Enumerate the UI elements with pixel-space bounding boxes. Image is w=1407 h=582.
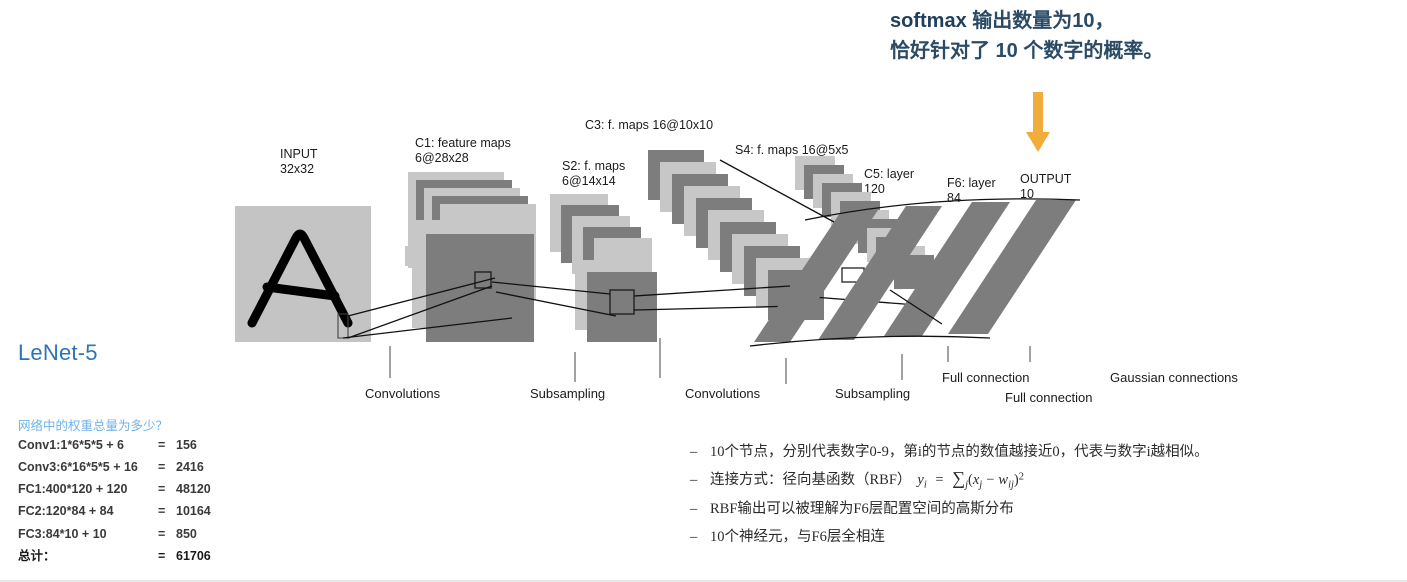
slide-canvas: softmax 输出数量为10， 恰好针对了 10 个数字的概率。 INPUT … [0, 0, 1407, 582]
weights-expr: FC2:120*84 + 84 [18, 500, 158, 522]
c1-feature-maps [405, 172, 536, 342]
bullet-text: 10个神经元，与F6层全相连 [710, 525, 885, 546]
op-label-gaussian-connections: Gaussian connections [1110, 370, 1238, 385]
table-row: FC1:400*120 + 120 = 48120 [18, 478, 211, 500]
table-row: FC3:84*10 + 10 = 850 [18, 523, 211, 545]
table-row: Conv3:6*16*5*5 + 16 = 2416 [18, 456, 211, 478]
weights-total-label: 总计： [18, 545, 158, 567]
bullet-text: 10个节点，分别代表数字0-9，第i的节点的数值越接近0，代表与数字i越相似。 [710, 440, 1209, 461]
bullet-dash: – [690, 444, 710, 461]
weights-expr: FC3:84*10 + 10 [18, 523, 158, 545]
weights-value: 48120 [176, 478, 211, 500]
formula-x-sub: j [979, 479, 982, 490]
weights-question-text: 网络中的权重总量为多少？ [18, 415, 168, 434]
callout-line1-rest: 输出数量为10， [967, 10, 1115, 32]
weights-value: 10164 [176, 500, 211, 522]
formula-minus: − [986, 472, 994, 488]
operation-label-row: Convolutions Subsampling Convolutions Su… [230, 360, 1330, 410]
table-row: Conv1:1*6*5*5 + 6 = 156 [18, 434, 211, 456]
op-label-convolutions-1: Convolutions [365, 386, 440, 401]
callout-softmax-word: softmax [890, 10, 967, 32]
weights-value: 850 [176, 523, 211, 545]
formula-sigma: ∑ [952, 468, 965, 488]
weights-equals: = [158, 523, 176, 545]
op-label-subsampling-2: Subsampling [835, 386, 910, 401]
op-label-full-connection-1: Full connection [942, 370, 1029, 385]
list-item: – RBF输出可以被理解为F6层配置空间的高斯分布 [690, 497, 1209, 518]
weights-expr: Conv1:1*6*5*5 + 6 [18, 434, 158, 456]
op-label-full-connection-2: Full connection [1005, 390, 1092, 405]
formula-exponent: 2 [1019, 471, 1024, 482]
list-item: – 10个节点，分别代表数字0-9，第i的节点的数值越接近0，代表与数字i越相似… [690, 440, 1209, 461]
bullet-text: RBF输出可以被理解为F6层配置空间的高斯分布 [710, 497, 1014, 518]
bullet-dash: – [690, 472, 710, 489]
list-item: – 连接方式：径向基函数（RBF） yi = ∑j(xj−wij)2 [690, 468, 1209, 490]
weights-expr: Conv3:6*16*5*5 + 16 [18, 456, 158, 478]
weights-equals: = [158, 434, 176, 456]
page-title: LeNet-5 [18, 340, 98, 366]
callout-line-1: softmax 输出数量为10， [890, 6, 1163, 36]
op-label-convolutions-2: Convolutions [685, 386, 760, 401]
s2-feature-maps [550, 194, 657, 342]
weights-equals: = [158, 478, 176, 500]
callout-line-2: 恰好针对了 10 个数字的概率。 [890, 36, 1163, 66]
list-item: – 10个神经元，与F6层全相连 [690, 525, 1209, 546]
table-row-total: 总计： = 61706 [18, 545, 211, 567]
softmax-callout: softmax 输出数量为10， 恰好针对了 10 个数字的概率。 [890, 6, 1163, 66]
weights-total-value: 61706 [176, 545, 211, 567]
output-layer-bullet-list: – 10个节点，分别代表数字0-9，第i的节点的数值越接近0，代表与数字i越相似… [690, 440, 1209, 553]
weights-equals: = [158, 456, 176, 478]
weights-expr: FC1:400*120 + 120 [18, 478, 158, 500]
bullet-text: 连接方式：径向基函数（RBF） [710, 468, 911, 489]
weights-equals: = [158, 500, 176, 522]
bullet-dash: – [690, 529, 710, 546]
formula-w: w [998, 472, 1008, 488]
weights-breakdown-table: Conv1:1*6*5*5 + 6 = 156 Conv3:6*16*5*5 +… [18, 434, 211, 567]
weights-value: 2416 [176, 456, 211, 478]
bullet-dash: – [690, 501, 710, 518]
formula-equals: = [935, 472, 943, 488]
op-label-subsampling-1: Subsampling [530, 386, 605, 401]
weights-value: 156 [176, 434, 211, 456]
formula-y-sub: i [924, 479, 927, 490]
weights-equals: = [158, 545, 176, 567]
table-row: FC2:120*84 + 84 = 10164 [18, 500, 211, 522]
rbf-formula: yi = ∑j(xj−wij)2 [917, 468, 1024, 490]
